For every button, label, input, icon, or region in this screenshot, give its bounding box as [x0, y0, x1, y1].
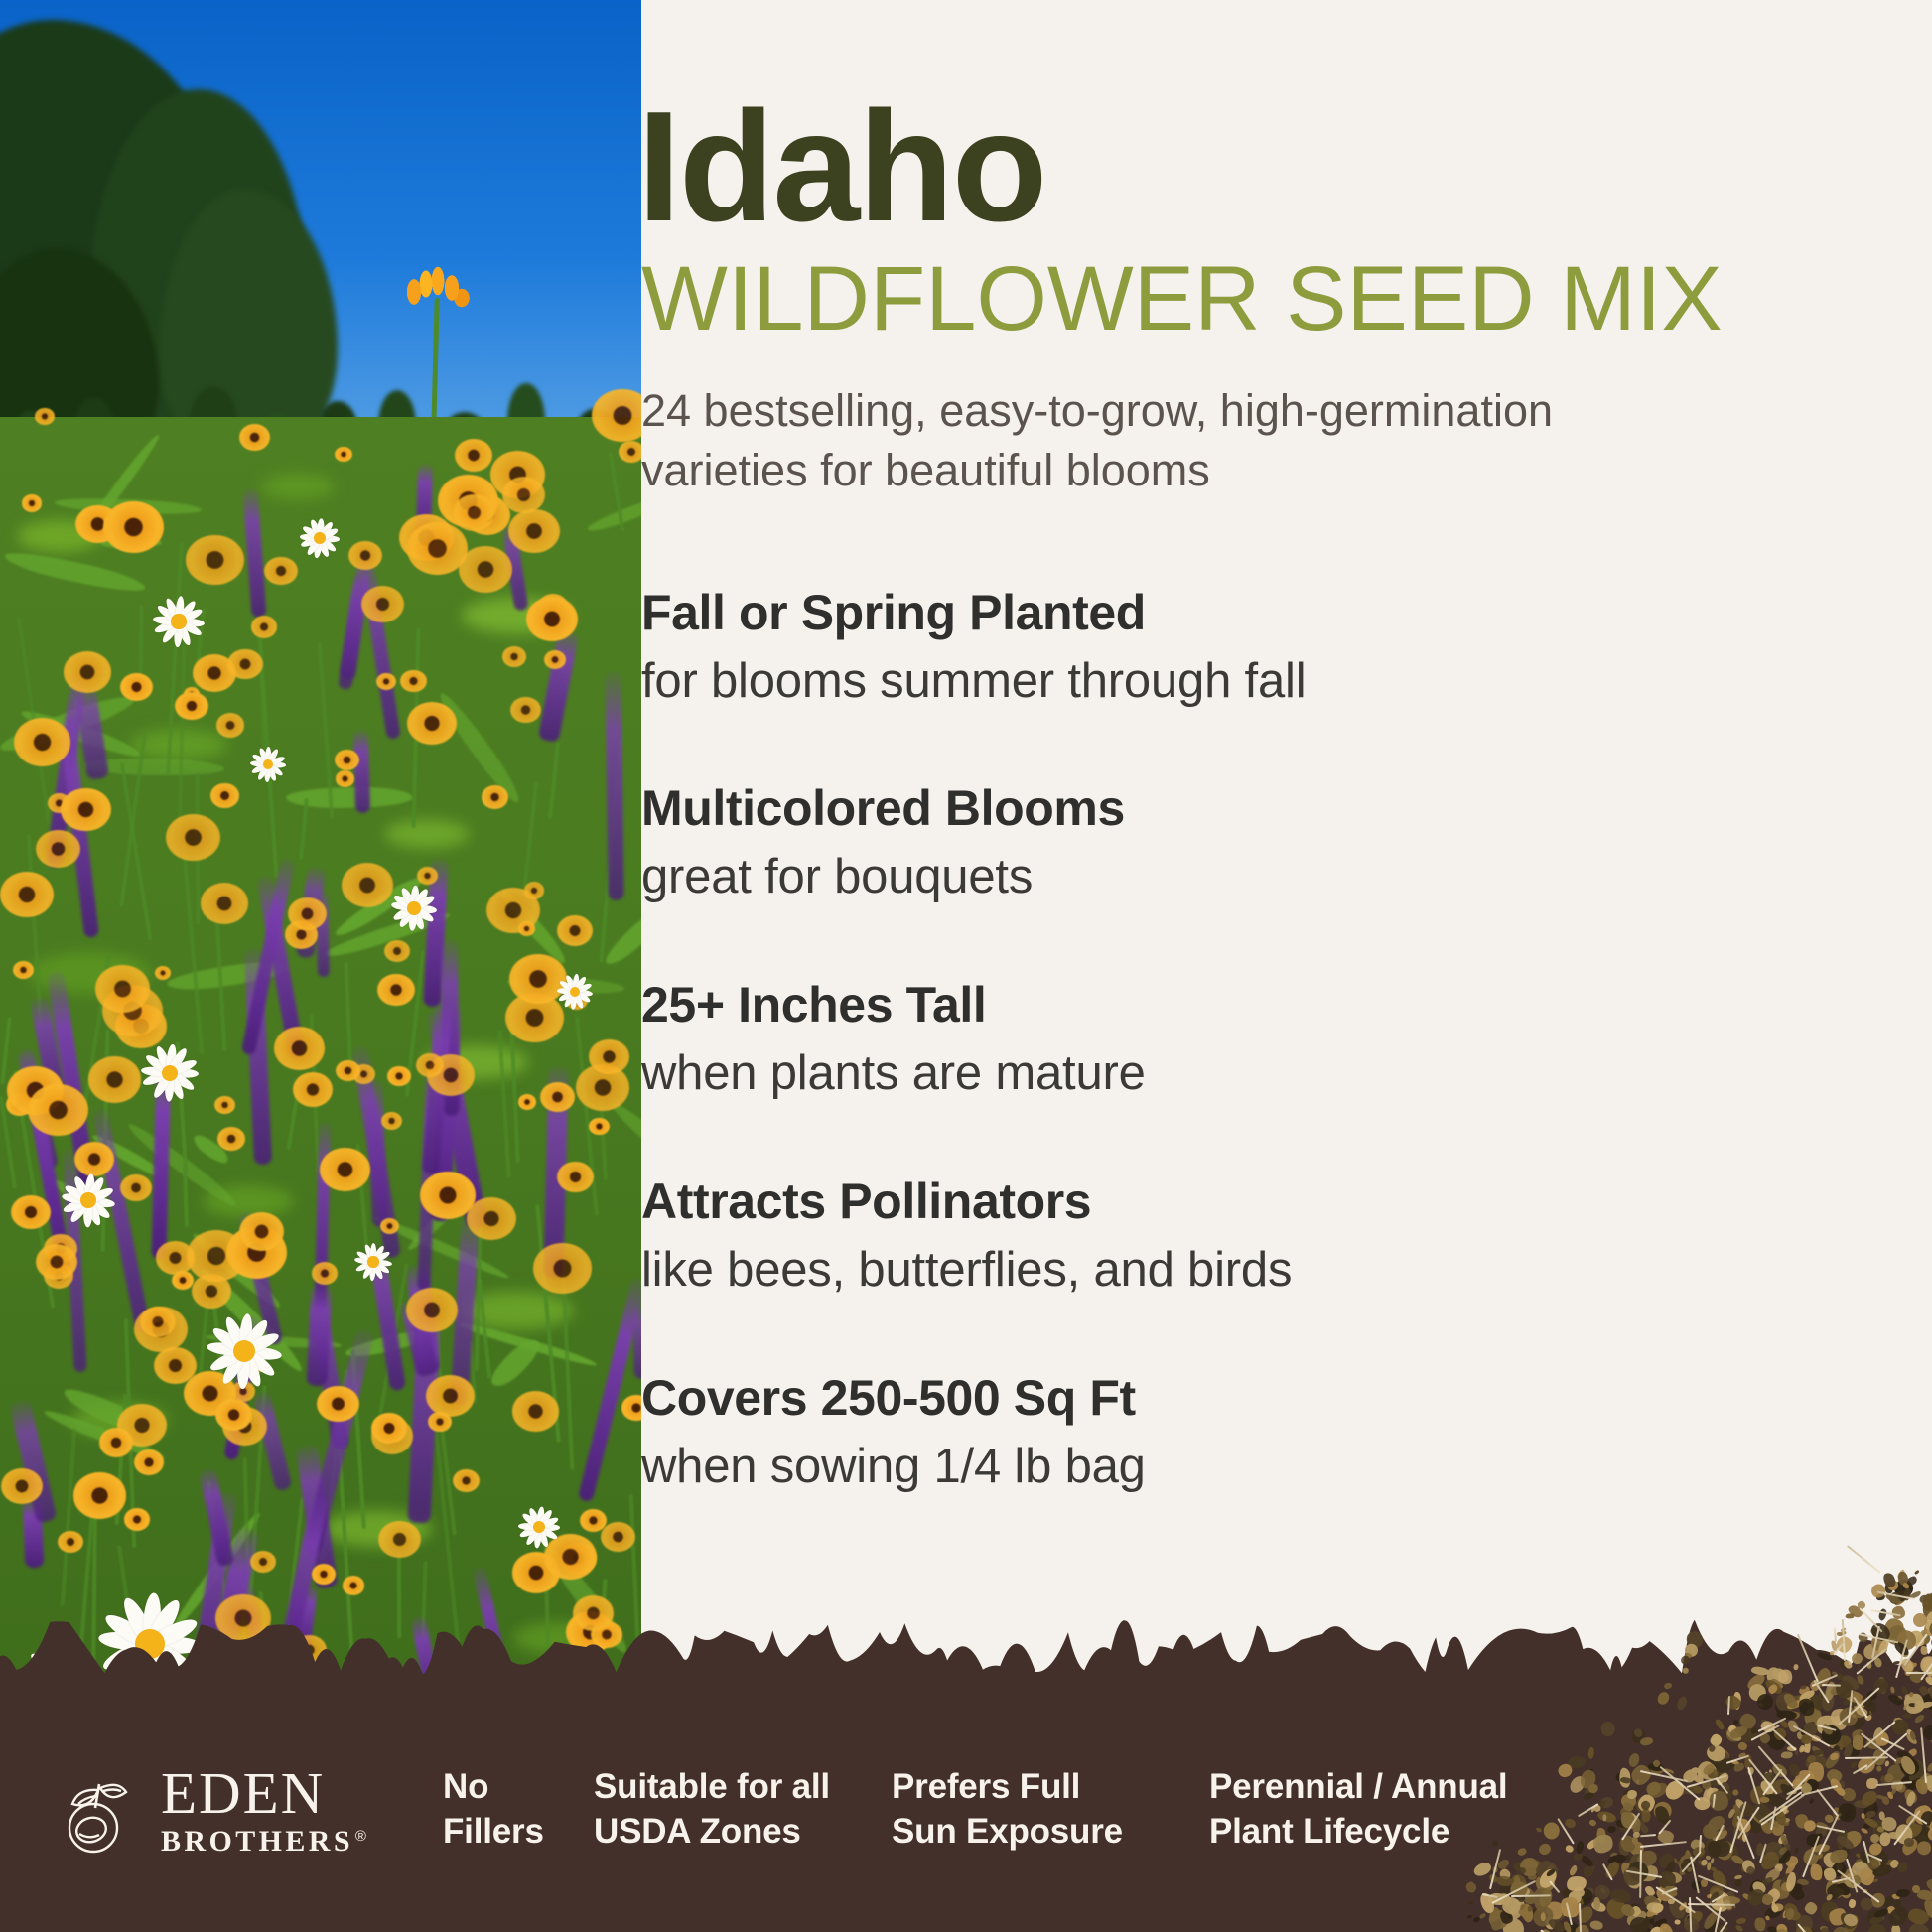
feature-heading: 25+ Inches Tall — [641, 978, 1932, 1033]
wildflower-meadow-photo — [0, 0, 641, 1747]
orange-rudbeckia-flower — [619, 441, 641, 463]
white-daisy-flower — [248, 745, 288, 784]
orange-rudbeckia-flower — [214, 1096, 235, 1114]
orange-rudbeckia-flower — [381, 1112, 402, 1130]
orange-rudbeckia-flower — [536, 1662, 568, 1690]
orange-rudbeckia-flower — [239, 424, 270, 451]
orange-rudbeckia-flower — [508, 509, 560, 553]
footer-fact-line2: Sun Exposure — [892, 1810, 1209, 1855]
feature-list: Fall or Spring Planted for blooms summer… — [641, 586, 1932, 1496]
product-details-panel: Idaho WILDFLOWER SEED MIX 24 bestselling… — [641, 0, 1932, 1747]
logo-wordmark-primary: EDEN — [161, 1764, 366, 1823]
white-daisy-flower — [60, 1172, 117, 1229]
orange-rudbeckia-flower — [215, 1594, 271, 1642]
orange-rudbeckia-flower — [557, 915, 593, 946]
orange-rudbeckia-flower — [1, 1468, 43, 1504]
orange-rudbeckia-flower — [217, 1127, 244, 1151]
orange-rudbeckia-flower — [64, 651, 111, 693]
orange-rudbeckia-flower — [312, 1564, 336, 1585]
footer-fact-line2: Plant Lifecycle — [1209, 1810, 1567, 1855]
logo-wordmark-secondary: BROTHERS — [161, 1827, 353, 1857]
list-item: Attracts Pollinators like bees, butterfl… — [641, 1174, 1932, 1300]
orange-rudbeckia-flower — [343, 1576, 365, 1594]
daisy-center — [48, 1664, 67, 1683]
orange-rudbeckia-flower — [11, 1195, 51, 1229]
orange-rudbeckia-flower — [216, 713, 245, 738]
footer-fact-plant-lifecycle: Perennial / Annual Plant Lifecycle — [1209, 1765, 1567, 1855]
orange-rudbeckia-flower — [36, 830, 79, 868]
footer-fact-sun-exposure: Prefers Full Sun Exposure — [892, 1765, 1209, 1855]
purple-larkspur-flower — [353, 730, 370, 813]
orange-rudbeckia-flower — [293, 1072, 334, 1107]
orange-rudbeckia-flower — [58, 1531, 82, 1553]
list-item: Fall or Spring Planted for blooms summer… — [641, 586, 1932, 711]
orange-rudbeckia-flower — [342, 863, 394, 907]
footer-fact-line1: Suitable for all — [594, 1765, 892, 1810]
orange-rudbeckia-flower — [573, 1595, 614, 1630]
orange-flower-bloom — [402, 266, 470, 308]
orange-rudbeckia-flower — [227, 649, 262, 679]
orange-rudbeckia-flower — [95, 965, 150, 1012]
orange-rudbeckia-flower — [206, 1663, 230, 1685]
orange-rudbeckia-flower — [416, 1053, 444, 1077]
orange-rudbeckia-flower — [502, 477, 545, 513]
orange-rudbeckia-flower — [426, 1375, 475, 1417]
orange-rudbeckia-flower — [453, 494, 495, 531]
meadow-field — [0, 417, 641, 1747]
seedling-sprout-icon — [56, 1764, 139, 1856]
orange-rudbeckia-flower — [533, 1243, 591, 1293]
feature-subtext: like bees, butterflies, and birds — [641, 1241, 1932, 1300]
orange-rudbeckia-flower — [166, 814, 220, 861]
orange-rudbeckia-flower — [512, 1391, 559, 1431]
orange-rudbeckia-flower — [335, 447, 352, 462]
white-daisy-flower — [516, 1504, 562, 1550]
orange-rudbeckia-flower — [292, 1635, 328, 1666]
orange-rudbeckia-flower — [482, 785, 508, 808]
registered-trademark-icon: ® — [355, 1829, 366, 1844]
orange-rudbeckia-flower — [201, 883, 248, 923]
orange-rudbeckia-flower — [467, 1197, 516, 1240]
orange-rudbeckia-flower — [140, 1307, 176, 1337]
list-item: Multicolored Blooms great for bouquets — [641, 781, 1932, 906]
white-daisy-flower — [389, 884, 439, 933]
orange-rudbeckia-flower — [73, 1472, 127, 1518]
footer-fact-line2: USDA Zones — [594, 1810, 892, 1855]
daisy-center — [233, 1340, 255, 1362]
orange-rudbeckia-flower — [120, 1174, 152, 1202]
orange-rudbeckia-flower — [99, 1428, 134, 1457]
feature-subtext: great for bouquets — [641, 848, 1932, 906]
product-description: 24 bestselling, easy-to-grow, high-germi… — [641, 381, 1664, 500]
eden-brothers-logo[interactable]: EDEN BROTHERS ® — [56, 1764, 443, 1857]
list-item: Covers 250-500 Sq Ft when sowing 1/4 lb … — [641, 1371, 1932, 1496]
orange-rudbeckia-flower — [384, 940, 410, 962]
orange-rudbeckia-flower — [407, 702, 457, 745]
product-info-card: Idaho WILDFLOWER SEED MIX 24 bestselling… — [0, 0, 1932, 1932]
orange-rudbeckia-flower — [274, 1027, 325, 1070]
orange-rudbeckia-flower — [124, 1508, 150, 1531]
daisy-center — [314, 532, 326, 544]
orange-rudbeckia-flower — [400, 670, 426, 693]
list-item: 25+ Inches Tall when plants are mature — [641, 978, 1932, 1103]
orange-rudbeckia-flower — [417, 867, 438, 885]
white-daisy-flower — [204, 1311, 285, 1392]
white-daisy-flower — [352, 1241, 394, 1283]
footer-fact-usda-zones: Suitable for all USDA Zones — [594, 1765, 892, 1855]
orange-rudbeckia-flower — [103, 501, 164, 553]
white-daisy-flower — [139, 1042, 201, 1104]
orange-rudbeckia-flower — [251, 616, 278, 638]
daisy-center — [135, 1629, 165, 1659]
orange-rudbeckia-flower — [154, 1347, 197, 1384]
orange-rudbeckia-flower — [0, 872, 54, 917]
orange-rudbeckia-flower — [378, 1521, 421, 1558]
orange-rudbeckia-flower — [88, 1056, 142, 1102]
orange-rudbeckia-flower — [387, 1066, 411, 1086]
feature-heading: Attracts Pollinators — [641, 1174, 1932, 1229]
footer-fact-line1: Prefers Full — [892, 1765, 1209, 1810]
product-subtitle: WILDFLOWER SEED MIX — [641, 251, 1932, 347]
orange-rudbeckia-flower — [239, 1212, 284, 1251]
orange-rudbeckia-flower — [455, 439, 492, 472]
orange-rudbeckia-flower — [210, 783, 238, 807]
footer-fact-line2: Fillers — [443, 1810, 594, 1855]
brand-footer: EDEN BROTHERS ® No Fillers Suitable for … — [0, 1688, 1932, 1932]
page-title: Idaho — [637, 95, 1932, 239]
white-daisy-flower — [556, 973, 594, 1011]
daisy-center — [80, 1192, 96, 1208]
footer-fact-no-fillers: No Fillers — [443, 1765, 594, 1855]
orange-rudbeckia-flower — [371, 1413, 407, 1444]
orange-rudbeckia-flower — [502, 646, 526, 666]
orange-rudbeckia-flower — [377, 974, 415, 1007]
daisy-center — [367, 1256, 378, 1267]
orange-rudbeckia-flower — [175, 692, 208, 721]
orange-rudbeckia-flower — [557, 1162, 593, 1192]
orange-rudbeckia-flower — [589, 1039, 628, 1074]
feature-heading: Fall or Spring Planted — [641, 586, 1932, 640]
orange-rudbeckia-flower — [336, 1060, 360, 1081]
white-daisy-flower — [94, 1588, 206, 1700]
footer-fact-line1: Perennial / Annual — [1209, 1765, 1567, 1810]
orange-rudbeckia-flower — [288, 897, 327, 930]
orange-rudbeckia-flower — [264, 557, 297, 586]
orange-rudbeckia-flower — [524, 882, 544, 898]
daisy-center — [171, 614, 186, 628]
orange-rudbeckia-flower — [526, 597, 578, 641]
orange-rudbeckia-flower — [250, 1551, 276, 1573]
orange-rudbeckia-flower — [320, 1148, 370, 1191]
feature-heading: Multicolored Blooms — [641, 781, 1932, 836]
orange-rudbeckia-flower — [361, 586, 404, 622]
feature-subtext: when sowing 1/4 lb bag — [641, 1438, 1932, 1496]
purple-larkspur-flower — [632, 1305, 641, 1380]
white-daisy-flower — [151, 594, 207, 649]
feature-subtext: when plants are mature — [641, 1044, 1932, 1103]
orange-rudbeckia-flower — [335, 750, 359, 770]
orange-rudbeckia-flower — [459, 546, 512, 593]
daisy-center — [407, 901, 421, 915]
footer-fact-line1: No — [443, 1765, 594, 1810]
orange-rudbeckia-flower — [336, 770, 354, 786]
feature-heading: Covers 250-500 Sq Ft — [641, 1371, 1932, 1426]
white-daisy-flower — [298, 516, 342, 560]
orange-rudbeckia-flower — [406, 1288, 458, 1332]
orange-rudbeckia-flower — [35, 408, 55, 425]
orange-rudbeckia-flower — [317, 1386, 359, 1423]
orange-rudbeckia-flower — [22, 494, 42, 511]
orange-rudbeckia-flower — [580, 1509, 607, 1532]
feature-subtext: for blooms summer through fall — [641, 652, 1932, 711]
orange-rudbeckia-flower — [510, 697, 541, 723]
orange-rudbeckia-flower — [601, 1522, 635, 1552]
orange-rudbeckia-flower — [544, 650, 566, 669]
